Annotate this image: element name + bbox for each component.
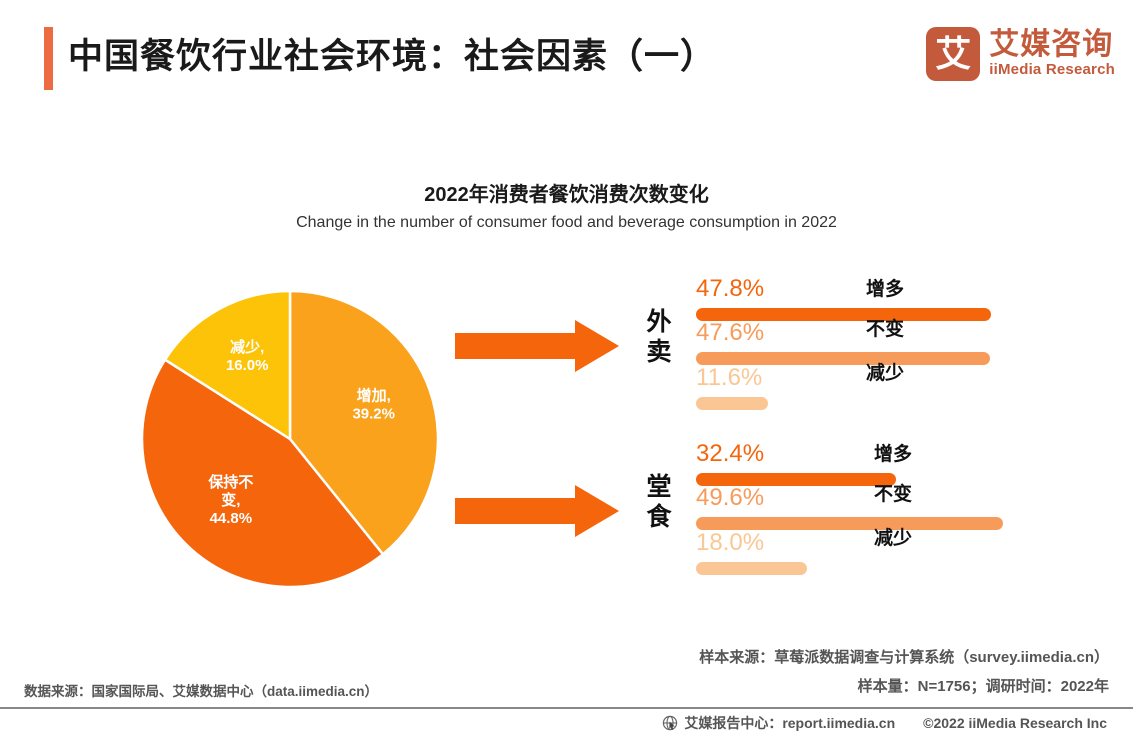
bar-track xyxy=(696,562,807,575)
bar-fill xyxy=(696,562,807,575)
sample-source-note: 样本来源：草莓派数据调查与计算系统（survey.iimedia.cn） xyxy=(699,646,1109,667)
bar-fill xyxy=(696,397,768,410)
bar-value: 49.6% xyxy=(696,485,764,511)
bar-group-label-takeout: 外 卖 xyxy=(638,307,680,367)
bar-category-label: 增多 xyxy=(874,443,912,467)
bar-category-label: 减少 xyxy=(874,527,912,551)
globe-cursor-icon xyxy=(662,715,678,731)
data-source-note: 数据来源：国家国际局、艾媒数据中心（data.iimedia.cn） xyxy=(24,680,378,700)
report-center-link[interactable]: 艾媒报告中心：report.iimedia.cn xyxy=(662,713,895,733)
bar-value: 32.4% xyxy=(696,441,764,467)
bar-track xyxy=(696,397,768,410)
bar-value: 47.6% xyxy=(696,320,764,346)
bar-value: 11.6% xyxy=(696,365,762,391)
bar-group-label-takeout-line2: 卖 xyxy=(638,337,680,367)
bar-value: 18.0% xyxy=(696,530,764,556)
bar-group-label-dinein-line2: 食 xyxy=(638,502,680,532)
bar-group-label-dinein-line1: 堂 xyxy=(638,472,680,502)
bar-category-label: 增多 xyxy=(866,278,904,302)
bar-category-label: 不变 xyxy=(866,318,904,342)
bar-value: 47.8% xyxy=(696,276,764,302)
bar-group-label-takeout-line1: 外 xyxy=(638,307,680,337)
footer-bar: 艾媒报告中心：report.iimedia.cn ©2022 iiMedia R… xyxy=(0,709,1133,737)
report-center-label: 艾媒报告中心：report.iimedia.cn xyxy=(684,713,895,733)
bar-category-label: 减少 xyxy=(866,362,904,386)
sample-size-note: 样本量：N=1756；调研时间：2022年 xyxy=(858,675,1109,696)
copyright-label: ©2022 iiMedia Research Inc xyxy=(923,715,1107,731)
bar-category-label: 不变 xyxy=(874,483,912,507)
bar-group-label-dinein: 堂 食 xyxy=(638,472,680,532)
bar-panel: 外 卖 47.8% 增多 47.6% 不变 11.6% 减少 堂 食 32.4%… xyxy=(0,0,1133,737)
